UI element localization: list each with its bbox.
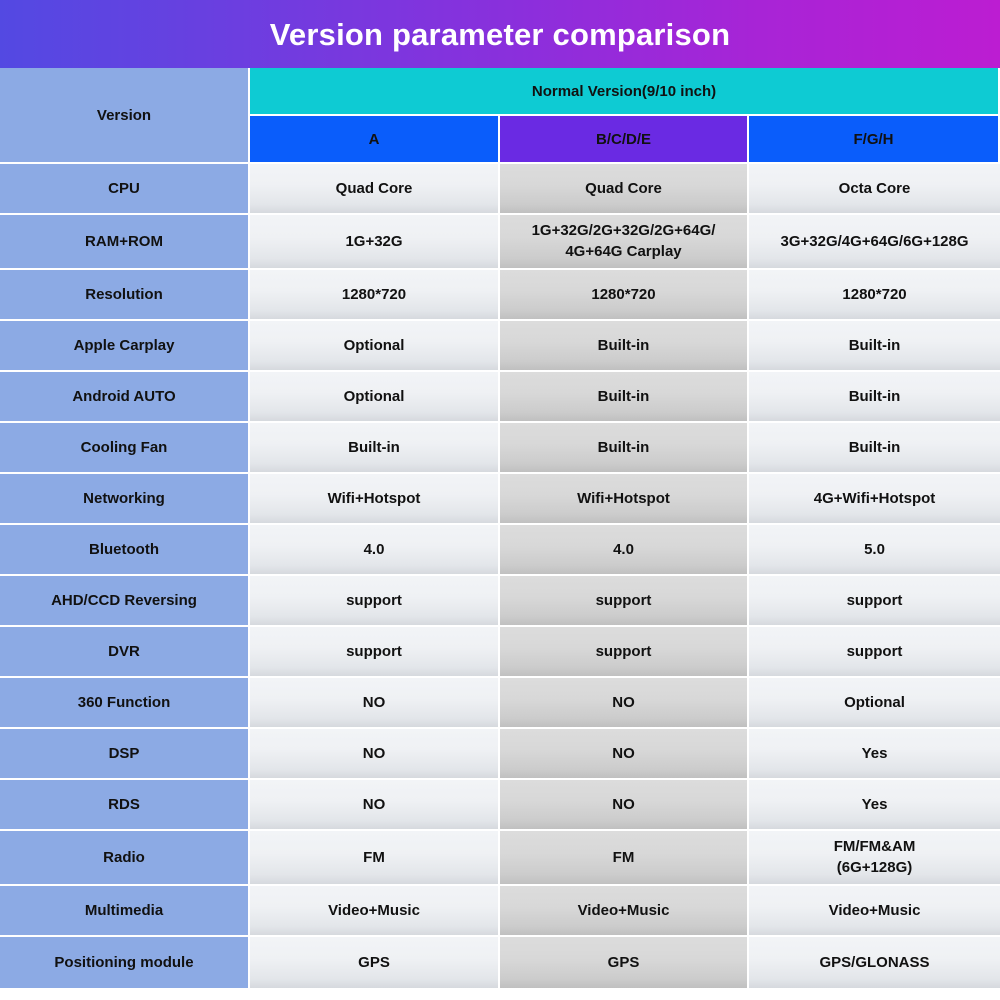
cell-fgh: Yes [749,729,1000,780]
row-label: RAM+ROM [0,215,250,270]
table-row: Multimedia Video+Music Video+Music Video… [0,886,1000,937]
cell-bcde: Built-in [500,423,749,474]
cell-bcde: NO [500,780,749,831]
row-label: Resolution [0,270,250,321]
cell-bcde: NO [500,729,749,780]
row-label: DVR [0,627,250,678]
cell-bcde: support [500,627,749,678]
cell-fgh: 1280*720 [749,270,1000,321]
cell-a: Optional [250,321,500,372]
cell-a: support [250,627,500,678]
cell-a: NO [250,729,500,780]
row-label: Radio [0,831,250,886]
row-label: Bluetooth [0,525,250,576]
table-row: Positioning module GPS GPS GPS/GLONASS [0,937,1000,988]
cell-bcde: GPS [500,937,749,988]
table-row: DVR support support support [0,627,1000,678]
cell-fgh: Built-in [749,372,1000,423]
header-group-normal-version: Normal Version(9/10 inch) [250,68,1000,116]
cell-a: Built-in [250,423,500,474]
cell-fgh: 4G+Wifi+Hotspot [749,474,1000,525]
cell-bcde: NO [500,678,749,729]
header-corner-version-label: Version [0,68,250,164]
row-label: Positioning module [0,937,250,988]
cell-fgh: Yes [749,780,1000,831]
cell-bcde: Built-in [500,372,749,423]
row-label: Multimedia [0,886,250,937]
table-row: RAM+ROM 1G+32G 1G+32G/2G+32G/2G+64G/4G+6… [0,215,1000,270]
table-row: AHD/CCD Reversing support support suppor… [0,576,1000,627]
table-row: RDS NO NO Yes [0,780,1000,831]
cell-bcde: Built-in [500,321,749,372]
cell-fgh: 3G+32G/4G+64G/6G+128G [749,215,1000,270]
row-label: AHD/CCD Reversing [0,576,250,627]
cell-bcde: Wifi+Hotspot [500,474,749,525]
cell-a: GPS [250,937,500,988]
cell-fgh: FM/FM&AM(6G+128G) [749,831,1000,886]
table-row: Apple Carplay Optional Built-in Built-in [0,321,1000,372]
cell-fgh: support [749,576,1000,627]
table-row: Bluetooth 4.0 4.0 5.0 [0,525,1000,576]
cell-a: Wifi+Hotspot [250,474,500,525]
cell-a: 1280*720 [250,270,500,321]
cell-fgh: Video+Music [749,886,1000,937]
row-label: Networking [0,474,250,525]
table-row: Networking Wifi+Hotspot Wifi+Hotspot 4G+… [0,474,1000,525]
cell-a: 1G+32G [250,215,500,270]
header-row-group: Version Normal Version(9/10 inch) [0,68,1000,116]
cell-a: Quad Core [250,164,500,215]
column-header-fgh[interactable]: F/G/H [749,116,1000,164]
cell-a: Video+Music [250,886,500,937]
cell-bcde: support [500,576,749,627]
comparison-sheet: Version parameter comparison Version Nor… [0,0,1000,1000]
table-row: Android AUTO Optional Built-in Built-in [0,372,1000,423]
page-title: Version parameter comparison [270,19,730,50]
cell-fgh: support [749,627,1000,678]
cell-a: 4.0 [250,525,500,576]
row-label: DSP [0,729,250,780]
column-header-a[interactable]: A [250,116,500,164]
page-title-bar: Version parameter comparison [0,0,1000,68]
version-parameter-table: Version Normal Version(9/10 inch) A B/C/… [0,68,1000,988]
cell-fgh: Built-in [749,423,1000,474]
cell-a: support [250,576,500,627]
cell-fgh: Optional [749,678,1000,729]
cell-bcde: Video+Music [500,886,749,937]
cell-a: NO [250,780,500,831]
table-row: CPU Quad Core Quad Core Octa Core [0,164,1000,215]
row-label: Android AUTO [0,372,250,423]
cell-fgh: 5.0 [749,525,1000,576]
cell-a: NO [250,678,500,729]
cell-bcde: FM [500,831,749,886]
row-label: CPU [0,164,250,215]
cell-a: FM [250,831,500,886]
table-row: DSP NO NO Yes [0,729,1000,780]
row-label: Apple Carplay [0,321,250,372]
table-row: Resolution 1280*720 1280*720 1280*720 [0,270,1000,321]
cell-fgh: GPS/GLONASS [749,937,1000,988]
table-row: Cooling Fan Built-in Built-in Built-in [0,423,1000,474]
row-label: Cooling Fan [0,423,250,474]
cell-bcde: Quad Core [500,164,749,215]
row-label: 360 Function [0,678,250,729]
cell-bcde: 4.0 [500,525,749,576]
cell-fgh: Octa Core [749,164,1000,215]
row-label: RDS [0,780,250,831]
table-body: Version Normal Version(9/10 inch) A B/C/… [0,68,1000,988]
cell-bcde: 1G+32G/2G+32G/2G+64G/4G+64G Carplay [500,215,749,270]
cell-a: Optional [250,372,500,423]
cell-bcde: 1280*720 [500,270,749,321]
cell-fgh: Built-in [749,321,1000,372]
table-row: 360 Function NO NO Optional [0,678,1000,729]
column-header-bcde[interactable]: B/C/D/E [500,116,749,164]
table-row: Radio FM FM FM/FM&AM(6G+128G) [0,831,1000,886]
